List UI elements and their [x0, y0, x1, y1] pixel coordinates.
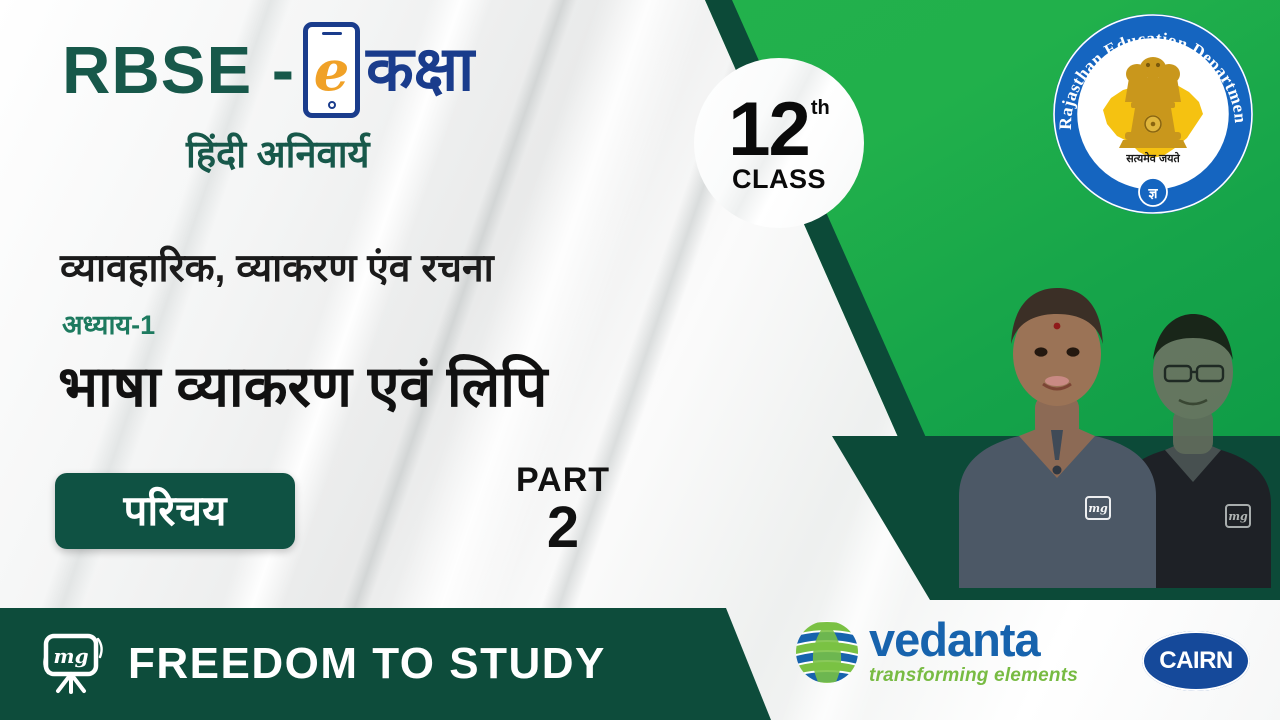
e-letter: e: [314, 43, 350, 99]
class-number-row: 12 th: [728, 92, 829, 168]
vedanta-name: vedanta: [869, 618, 1078, 663]
topic-line: व्यावहारिक, व्याकरण एंव रचना: [60, 240, 494, 293]
vedanta-globe-icon: [793, 618, 861, 686]
department-motto: सत्यमेव जयते: [1125, 151, 1180, 165]
instructor-photos: mg mg: [955, 236, 1280, 588]
kaksha-word: कक्षा: [366, 39, 474, 101]
vedanta-tagline: transforming elements: [869, 665, 1078, 687]
department-badge-letter: ज्ञ: [1148, 185, 1159, 201]
board-name: RBSE -: [62, 37, 295, 104]
phone-speaker: [322, 32, 342, 35]
cairn-name: CAIRN: [1159, 647, 1233, 675]
mg-logo-icon: mg: [40, 633, 108, 695]
rajasthan-education-department-logo: Rajasthan Education Department सत्य: [1045, 6, 1261, 222]
brand-logo-row: RBSE - e कक्षा: [62, 22, 474, 118]
cairn-logo: CAIRN: [1142, 631, 1250, 691]
chapter-number: अध्याय-1: [62, 305, 155, 342]
chest-logo-front: mg: [1085, 496, 1111, 520]
mg-logo-text: mg: [53, 644, 88, 668]
class-number: 12: [728, 92, 809, 168]
chest-logo-back: mg: [1225, 504, 1251, 528]
section-pill-label: परिचय: [124, 490, 227, 532]
banner-tagline: FREEDOM TO STUDY: [128, 639, 606, 689]
class-label: CLASS: [732, 164, 826, 195]
freedom-to-study-banner: mg FREEDOM TO STUDY: [0, 608, 790, 720]
thumbnail-canvas: 12 th CLASS RBSE - e कक्षा हिंदी अनिवार्…: [0, 0, 1280, 720]
phone-home-button: [328, 101, 336, 109]
part-number: 2: [498, 499, 628, 557]
instructor-front: mg: [955, 248, 1160, 588]
part-indicator: PART 2: [498, 463, 628, 557]
subject-name: हिंदी अनिवार्य: [186, 127, 370, 179]
section-pill: परिचय: [55, 473, 295, 549]
vedanta-wordmark: vedanta transforming elements: [869, 618, 1078, 687]
class-badge: 12 th CLASS: [694, 58, 864, 228]
part-word: PART: [498, 463, 628, 499]
class-ordinal-suffix: th: [811, 98, 830, 118]
chapter-title: भाषा व्याकरण एवं लिपि: [58, 345, 547, 423]
smartphone-icon: e: [303, 22, 360, 118]
vedanta-logo: vedanta transforming elements: [793, 618, 1078, 687]
